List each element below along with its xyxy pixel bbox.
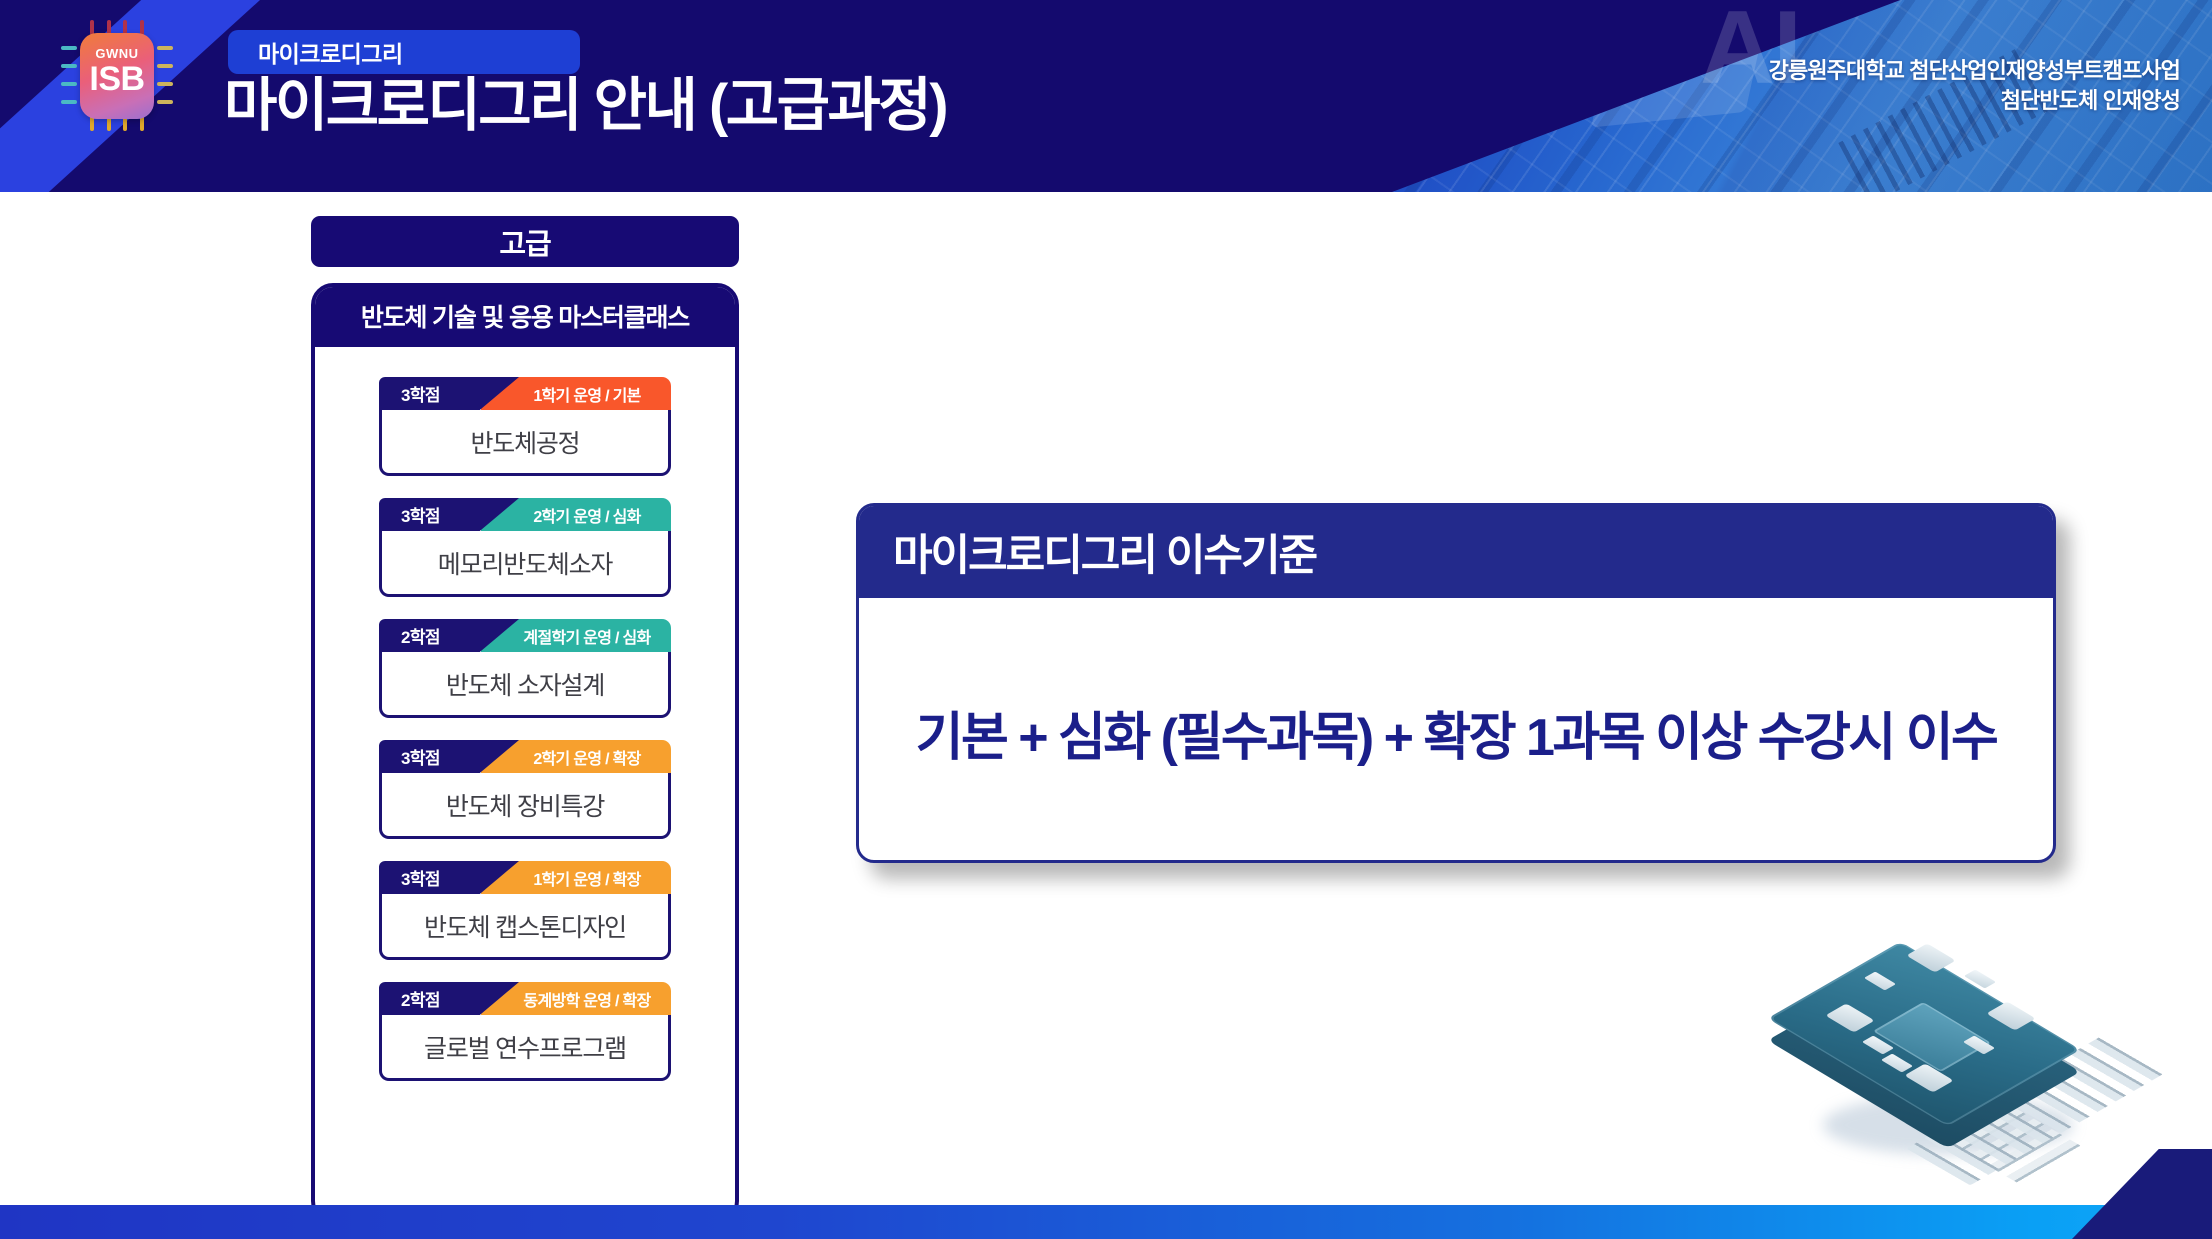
- completion-criteria-panel: 마이크로디그리 이수기준 기본 + 심화 (필수과목) + 확장 1과목 이상 …: [856, 503, 2056, 863]
- course-badge-row: 1학기 운영 / 확장3학점: [379, 861, 671, 894]
- organization-line-1: 강릉원주대학교 첨단산업인재양성부트캠프사업: [1769, 56, 2180, 86]
- logo-pins-left: [61, 46, 77, 104]
- course-name: 글로벌 연수프로그램: [379, 1015, 671, 1081]
- course-card[interactable]: 계절학기 운영 / 심화2학점반도체 소자설계: [379, 619, 671, 718]
- page-title: 마이크로디그리 안내 (고급과정): [224, 74, 946, 139]
- footer-bar: [0, 1205, 2212, 1239]
- organization-label: 강릉원주대학교 첨단산업인재양성부트캠프사업 첨단반도체 인재양성: [1769, 56, 2180, 116]
- course-badge-row: 2학기 운영 / 확장3학점: [379, 740, 671, 773]
- course-badge-row: 동계방학 운영 / 확장2학점: [379, 982, 671, 1015]
- logo-sub-text: GWNU: [80, 46, 154, 61]
- course-badge-row: 계절학기 운영 / 심화2학점: [379, 619, 671, 652]
- gwnu-isb-chip-logo: GWNU ISB: [58, 20, 176, 132]
- course-name: 반도체 소자설계: [379, 652, 671, 718]
- course-list: 1학기 운영 / 기본3학점반도체공정2학기 운영 / 심화3학점메모리반도체소…: [315, 349, 735, 1081]
- microchip-illustration: [1783, 905, 2123, 1195]
- header-banner: AI GWNU ISB 마이크로디그리 마이크로디그리 안내 (고급과정) 강릉…: [0, 0, 2212, 192]
- criteria-panel-body: 기본 + 심화 (필수과목) + 확장 1과목 이상 수강시 이수: [859, 598, 2053, 863]
- header-category-pill: 마이크로디그리: [228, 30, 580, 74]
- course-track-panel: 반도체 기술 및 응용 마스터클래스 1학기 운영 / 기본3학점반도체공정2학…: [311, 283, 739, 1223]
- course-card[interactable]: 2학기 운영 / 확장3학점반도체 장비특강: [379, 740, 671, 839]
- level-tab-advanced: 고급: [311, 216, 739, 267]
- course-badge-row: 1학기 운영 / 기본3학점: [379, 377, 671, 410]
- course-card[interactable]: 1학기 운영 / 확장3학점반도체 캡스톤디자인: [379, 861, 671, 960]
- organization-line-2: 첨단반도체 인재양성: [1769, 86, 2180, 116]
- course-name: 메모리반도체소자: [379, 531, 671, 597]
- course-name: 반도체 장비특강: [379, 773, 671, 839]
- track-title: 반도체 기술 및 응용 마스터클래스: [313, 285, 737, 347]
- course-card[interactable]: 1학기 운영 / 기본3학점반도체공정: [379, 377, 671, 476]
- criteria-panel-title: 마이크로디그리 이수기준: [859, 506, 2053, 598]
- logo-pins-right: [157, 46, 173, 104]
- course-badge-row: 2학기 운영 / 심화3학점: [379, 498, 671, 531]
- course-name: 반도체 캡스톤디자인: [379, 894, 671, 960]
- course-card[interactable]: 2학기 운영 / 심화3학점메모리반도체소자: [379, 498, 671, 597]
- course-card[interactable]: 동계방학 운영 / 확장2학점글로벌 연수프로그램: [379, 982, 671, 1081]
- logo-main-text: ISB: [80, 62, 154, 98]
- course-name: 반도체공정: [379, 410, 671, 476]
- logo-chip-body: GWNU ISB: [80, 33, 154, 119]
- slide-canvas: AI GWNU ISB 마이크로디그리 마이크로디그리 안내 (고급과정) 강릉…: [0, 0, 2212, 1239]
